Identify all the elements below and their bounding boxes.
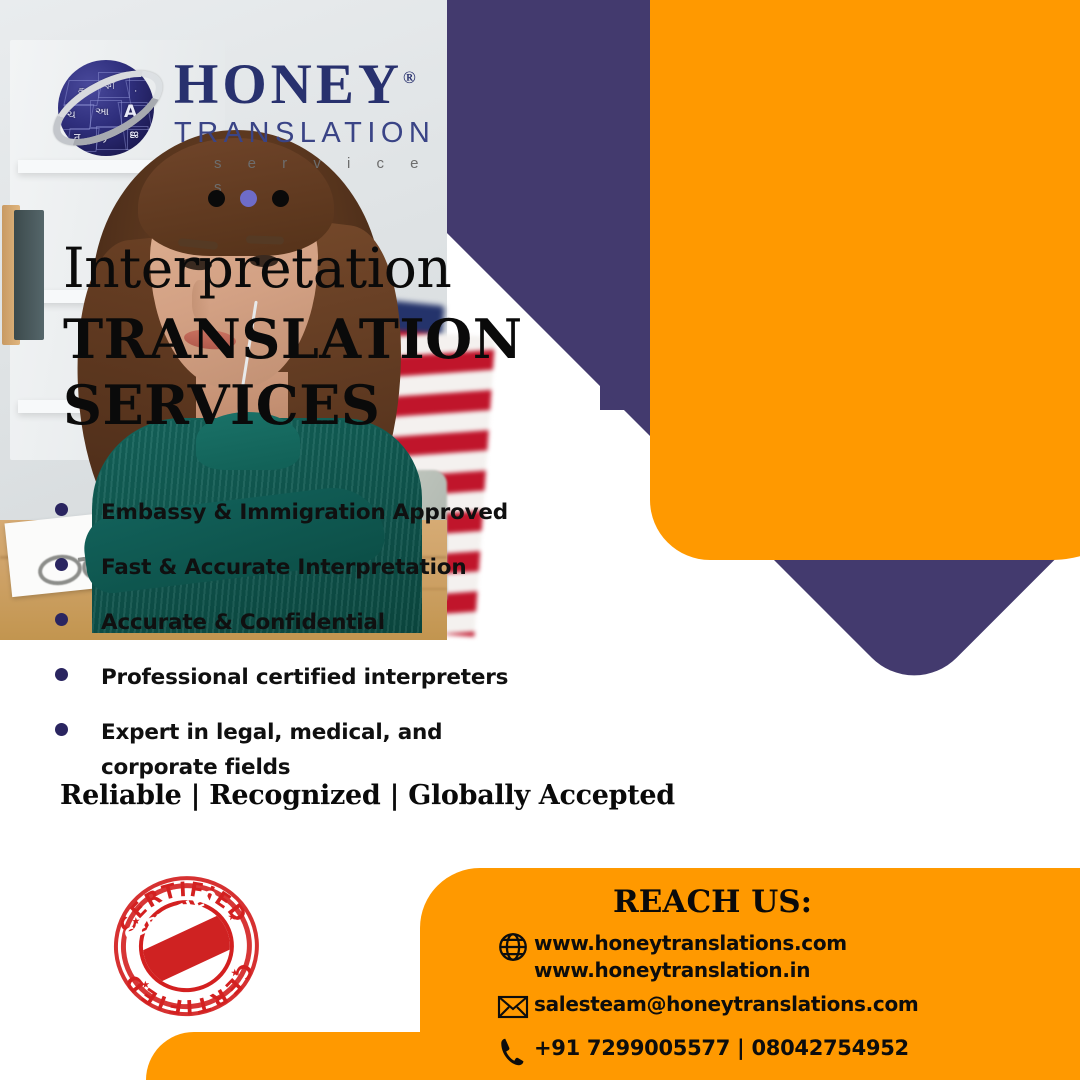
headline-script-line: Interpretation [63, 236, 533, 300]
brand-name-primary: HONEY® [174, 48, 452, 115]
list-item-label: Embassy & Immigration Approved [101, 495, 508, 530]
decorative-dot-3 [272, 190, 289, 207]
features-list: Embassy & Immigration Approved Fast & Ac… [55, 495, 535, 805]
brand-wordmark: HONEY® TRANSLATION s e r v i c e s [174, 48, 452, 200]
list-item-label: Professional certified interpreters [101, 660, 508, 695]
orange-shape-top-fill [860, 0, 1080, 410]
globe-icon: க কা ᐧ ચ આ A त ア ജ [52, 54, 164, 166]
list-item: Accurate & Confidential [55, 605, 535, 640]
tagline: Reliable | Recognized | Globally Accepte… [60, 780, 675, 811]
brand-logo[interactable]: க কা ᐧ ચ આ A त ア ജ HONEY® TRANSLATION s … [52, 48, 452, 173]
contact-phone-label[interactable]: +91 7299005577 | 08042754952 [534, 1035, 909, 1062]
contact-email-label[interactable]: salesteam@honeytranslations.com [534, 991, 918, 1018]
bullet-dot-icon [55, 503, 68, 516]
headline-line-2: SERVICES [63, 372, 533, 438]
registered-trademark-icon: ® [403, 68, 416, 87]
list-item: Fast & Accurate Interpretation [55, 550, 535, 585]
list-item-label: Fast & Accurate Interpretation [101, 550, 466, 585]
bullet-dot-icon [55, 558, 68, 571]
list-item: Expert in legal, medical, and corporate … [55, 715, 535, 785]
globe-glyph-9: ജ [129, 128, 138, 142]
website-primary[interactable]: www.honeytranslations.com [534, 931, 847, 955]
list-item: Embassy & Immigration Approved [55, 495, 535, 530]
headline-line-1: TRANSLATION [63, 306, 533, 372]
brand-name-primary-text: HONEY [174, 53, 403, 116]
contact-heading: REACH US: [613, 884, 812, 920]
list-item-label: Accurate & Confidential [101, 605, 385, 640]
headline-main: TRANSLATION SERVICES [63, 306, 533, 438]
list-item-label: Expert in legal, medical, and corporate … [101, 715, 461, 785]
bullet-dot-icon [55, 723, 68, 736]
bullet-dot-icon [55, 668, 68, 681]
contact-website-labels: www.honeytranslations.com www.honeytrans… [534, 930, 847, 984]
contact-row-website[interactable]: www.honeytranslations.com www.honeytrans… [492, 930, 847, 984]
list-item: Professional certified interpreters [55, 660, 535, 695]
brand-name-secondary: TRANSLATION [174, 116, 452, 150]
decorative-dot-2 [240, 190, 257, 207]
website-secondary[interactable]: www.honeytranslation.in [534, 958, 810, 982]
phone-icon [492, 1035, 534, 1069]
contact-row-phone[interactable]: +91 7299005577 | 08042754952 [492, 1035, 909, 1069]
decorative-dot-1 [208, 190, 225, 207]
photo-book-dark [14, 210, 44, 340]
globe-icon [492, 930, 534, 964]
contact-row-email[interactable]: salesteam@honeytranslations.com [492, 991, 918, 1023]
decorative-dots [208, 190, 289, 207]
envelope-icon [492, 991, 534, 1023]
page-title: Interpretation TRANSLATION SERVICES [63, 236, 533, 438]
bullet-dot-icon [55, 613, 68, 626]
